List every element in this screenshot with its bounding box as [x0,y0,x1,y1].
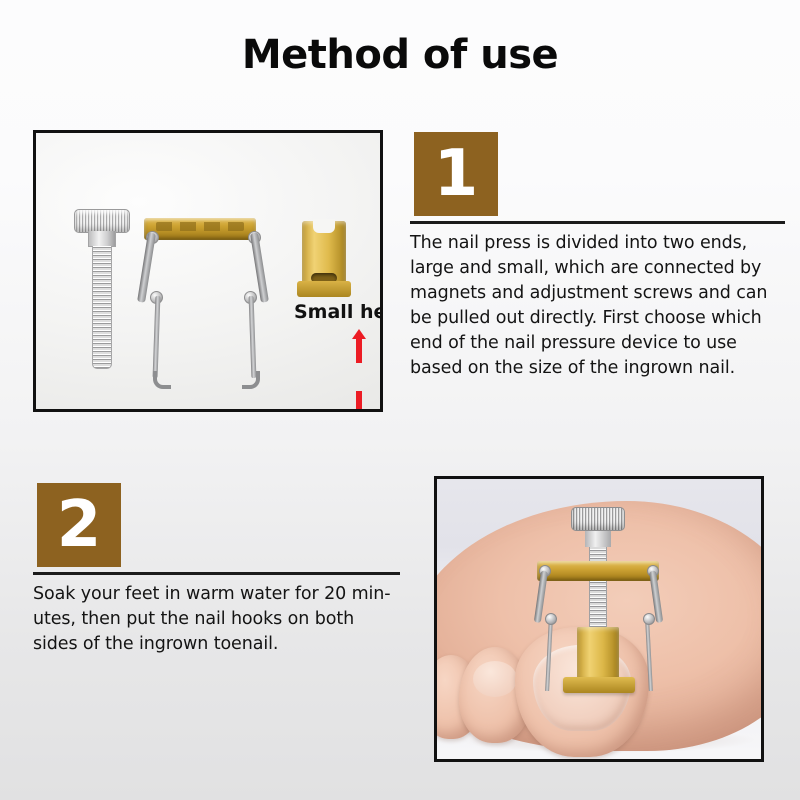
device-thumbscrew-knob-icon [571,507,625,531]
step-1-line-6: based on the size of the ingrown nail. [410,356,788,381]
step-1-line-5: end of the nail pressure device to use [410,331,788,356]
foot-photo-inner [437,479,761,759]
product-parts-photo: Small head Big head [33,130,383,412]
step-1-divider [410,221,785,224]
step-2-line-3: sides of the ingrown toenail. [33,632,405,657]
step-1-line-3: magnets and adjustment screws and can [410,281,788,306]
arrow-down-shaft [356,391,362,412]
gold-head-piece-icon [302,221,346,297]
thumbscrew-shaft-icon [92,246,112,369]
device-gold-foot-icon [563,677,635,693]
step-2-number-badge: 2 [37,483,121,567]
step-1-line-4: be pulled out directly. First choose whi… [410,306,788,331]
step-1-line-2: large and small, which are connected by [410,256,788,281]
red-arrow-up-icon [352,329,366,363]
arrow-up-shaft [356,337,362,363]
thumbscrew-knob-icon [74,209,130,233]
step-2-line-1: Soak your feet in warm water for 20 min- [33,582,405,607]
step-1-line-1: The nail press is divided into two ends, [410,231,788,256]
device-knob-neck-icon [585,529,611,547]
device-pivot-bottom-left-icon [545,613,557,625]
gold-bracket-bar-icon [144,218,256,240]
gold-head-foot [297,281,351,297]
gold-head-notch [313,219,335,233]
parts-photo-inner: Small head Big head [36,133,380,409]
step-1-number-badge: 1 [414,132,498,216]
thumbscrew-neck-icon [88,231,116,247]
device-pivot-bottom-right-icon [643,613,655,625]
device-gold-bar-icon [537,561,659,581]
step-1-description: The nail press is divided into two ends,… [410,231,788,381]
small-head-label: Small head [294,301,383,323]
step-2-divider [33,572,400,575]
toenail-small-icon [473,661,517,697]
red-arrow-down-icon [352,391,366,412]
foot-application-photo [434,476,764,762]
nail-hook-tip-left-icon [153,371,171,389]
instruction-page: Method of use Small hea [0,0,800,800]
step-2-line-2: utes, then put the nail hooks on both [33,607,405,632]
page-title: Method of use [0,32,800,78]
step-2-description: Soak your feet in warm water for 20 min-… [33,582,405,657]
